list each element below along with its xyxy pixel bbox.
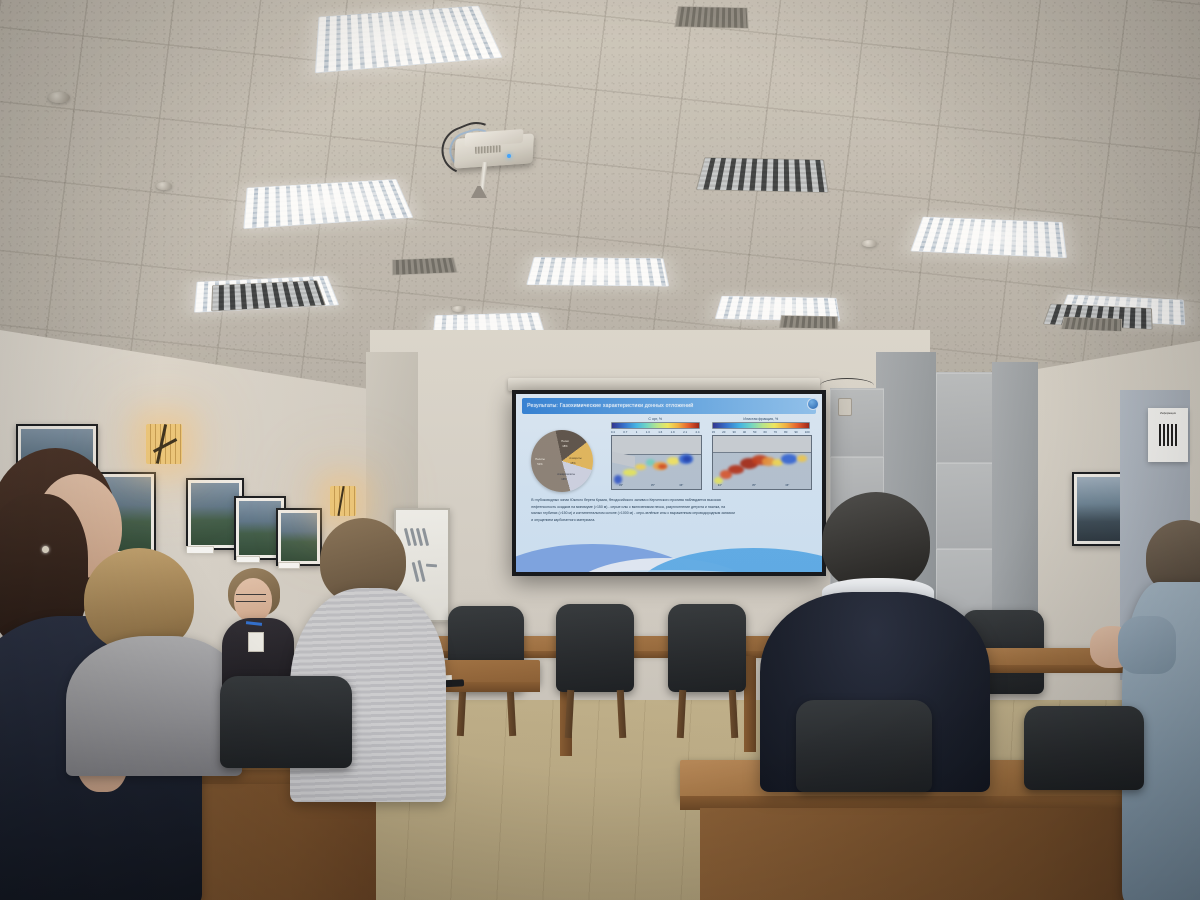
tick: 60 [763, 430, 766, 434]
tick: 15 [712, 430, 715, 434]
wall-sconce-light [330, 486, 356, 516]
ceiling-light-fixture [526, 257, 669, 286]
tick: 70 [774, 430, 777, 434]
tick: 50 [753, 430, 756, 434]
smoke-detector [862, 240, 877, 247]
tick: 100 [805, 430, 810, 434]
qr-code-icon [1159, 424, 1178, 446]
chair[interactable] [556, 604, 634, 738]
glasses-icon [236, 594, 266, 602]
colorbar-gradient [712, 422, 810, 429]
right-map-colorbar: Илистая фракция, % 15 20 30 40 50 60 70 … [712, 417, 810, 434]
hair [822, 492, 930, 592]
slide-title: Результаты: Газохимические характеристик… [522, 403, 693, 409]
axis-tick: 36° [679, 484, 683, 487]
chair[interactable] [668, 604, 746, 738]
ceiling-light-fixture [910, 217, 1067, 258]
left-map-panel: 46° 45° 44.2° 33° 35° 36° [611, 435, 702, 490]
chair[interactable] [1024, 706, 1144, 816]
axis-tick: 36° [785, 484, 789, 487]
qr-poster[interactable]: Информация [1148, 408, 1188, 462]
smoke-detector [156, 182, 172, 190]
pie-slice-value: 15% [570, 462, 575, 465]
chair[interactable] [220, 676, 352, 806]
person-woman-blonde-left [72, 548, 242, 768]
tick: 20 [722, 430, 725, 434]
axis-tick: 33° [619, 484, 623, 487]
tick: 1.3 [646, 430, 650, 434]
projector-led-icon [507, 154, 511, 158]
left-map-colorbar: С орг, % 0.4 0.7 1 1.3 1.6 1.9 2.1 2.4 [611, 417, 700, 434]
smoke-detector [48, 92, 70, 103]
chair[interactable] [796, 700, 932, 820]
smoke-detector [452, 306, 465, 312]
slide-title-bar: Результаты: Газохимические характеристик… [522, 398, 816, 414]
colorbar-ticks: 15 20 30 40 50 60 70 80 90 100 [712, 430, 810, 434]
sleeve [1118, 616, 1176, 674]
tick: 2.4 [696, 430, 700, 434]
tick: 1 [636, 430, 638, 434]
earring-icon [42, 546, 49, 553]
colorbar-ticks: 0.4 0.7 1 1.3 1.6 1.9 2.1 2.4 [611, 430, 700, 434]
ceiling-air-vent [392, 257, 458, 275]
colorbar-label: С орг, % [611, 417, 700, 421]
tick: 90 [794, 430, 797, 434]
tick: 40 [743, 430, 746, 434]
conference-room-photo: Информация Результаты: Газохимические ха… [0, 0, 1200, 900]
ceiling-projector [455, 128, 539, 174]
wall-socket [838, 398, 852, 416]
torso [66, 636, 242, 776]
tick: 1.6 [658, 430, 662, 434]
pie-slice-label: Алевриты [569, 457, 581, 460]
ceiling-air-vent [779, 315, 838, 329]
pie-slice-value: 16% [561, 478, 566, 481]
pie-slice-value: 18% [562, 445, 567, 448]
tick: 0.4 [611, 430, 615, 434]
wall-panel [936, 372, 994, 464]
poster-heading: Информация [1148, 412, 1188, 415]
badge [248, 632, 264, 652]
person-woman-with-glasses [222, 568, 298, 686]
tick: 0.7 [623, 430, 627, 434]
tick: 80 [784, 430, 787, 434]
pie-chart: Пески 18% Алевриты 15% Алевропелиты 16% … [531, 430, 593, 492]
pie-slice-value: 51% [537, 463, 542, 466]
wall-panel-column [992, 362, 1038, 644]
tick: 2.1 [683, 430, 687, 434]
ceiling-air-vent [1061, 317, 1123, 332]
ceiling-light-fixture-off [696, 157, 829, 193]
pie-slice-label: Пески [561, 440, 568, 443]
colorbar-gradient [611, 422, 700, 429]
right-map-panel: 34° 35° 36° [712, 435, 812, 490]
axis-tick: 35° [752, 484, 756, 487]
colorbar-label: Илистая фракция, % [712, 417, 810, 421]
wall-cable [820, 378, 874, 393]
slide-logo-badge [807, 398, 819, 410]
ceiling-air-vent [674, 6, 748, 28]
tick: 1.9 [671, 430, 675, 434]
axis-tick: 35° [651, 484, 655, 487]
tick: 30 [732, 430, 735, 434]
axis-tick: 34° [718, 484, 722, 487]
pie-slice-label: Алевропелиты [557, 473, 575, 476]
pie-slice-label: Пелиты [535, 458, 545, 461]
